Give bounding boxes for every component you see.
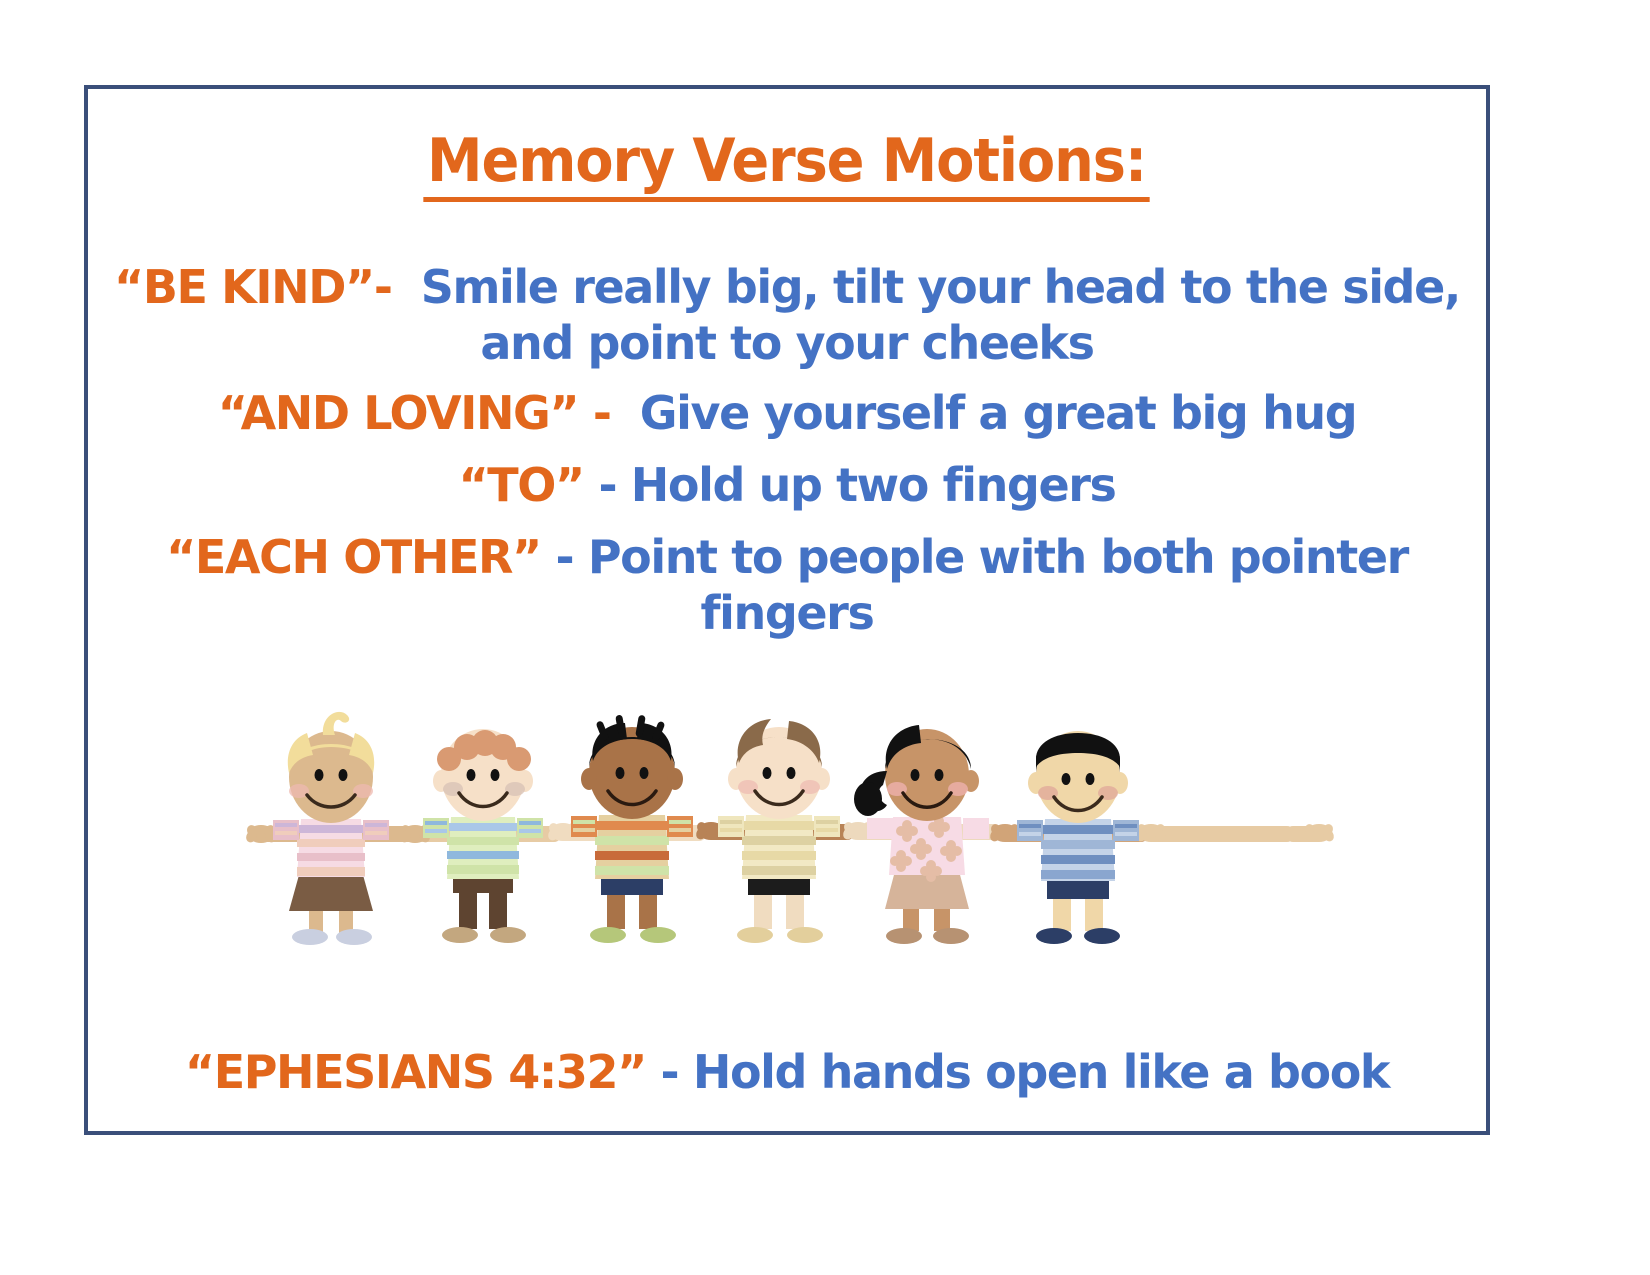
verse-lines: “BE KIND”- Smile really big, tilt your h… xyxy=(88,259,1486,641)
footer-dash: - xyxy=(661,1045,679,1099)
child-black-haired-boy xyxy=(1017,731,1139,944)
child-blonde-ponytail-girl xyxy=(273,712,389,945)
verse-cue: “BE KIND” xyxy=(114,260,374,314)
verse-cue: “AND LOVING” xyxy=(218,386,579,440)
page-title-wrap: Memory Verse Motions: xyxy=(88,131,1486,202)
page-title: Memory Verse Motions: xyxy=(424,131,1150,202)
poster-content: Memory Verse Motions: “BE KIND”- Smile r… xyxy=(88,89,1486,1131)
verse-action: Hold up two fingers xyxy=(631,458,1116,512)
footer-action: Hold hands open like a book xyxy=(693,1045,1389,1099)
footer-cue: “EPHESIANS 4:32” xyxy=(185,1045,646,1099)
child-red-haired-boy xyxy=(423,729,543,943)
verse-line: “BE KIND”- Smile really big, tilt your h… xyxy=(88,259,1486,371)
child-brown-haired-boy xyxy=(718,719,840,943)
child-braided-boy xyxy=(571,714,693,943)
verse-dash: - xyxy=(593,386,611,440)
verse-action: Smile really big, tilt your head to the … xyxy=(421,260,1460,370)
footer-verse-line: “EPHESIANS 4:32” - Hold hands open like … xyxy=(88,1044,1486,1100)
verse-dash: - xyxy=(598,458,616,512)
verse-cue: “TO” xyxy=(458,458,583,512)
children-illustration xyxy=(88,699,1486,969)
verse-line: “EACH OTHER” - Point to people with both… xyxy=(88,529,1486,641)
verse-action: Point to people with both pointer finger… xyxy=(588,530,1408,640)
verse-action: Give yourself a great big hug xyxy=(640,386,1357,440)
six-children-holding-hands-icon xyxy=(227,699,1347,954)
verse-cue: “EACH OTHER” xyxy=(166,530,541,584)
verse-line: “AND LOVING” - Give yourself a great big… xyxy=(88,385,1486,441)
verse-dash: - xyxy=(374,260,392,314)
poster: Memory Verse Motions: “BE KIND”- Smile r… xyxy=(0,0,1650,1275)
verse-line: “TO” - Hold up two fingers xyxy=(88,457,1486,513)
child-black-ponytail-girl xyxy=(854,725,989,944)
verse-dash: - xyxy=(555,530,573,584)
